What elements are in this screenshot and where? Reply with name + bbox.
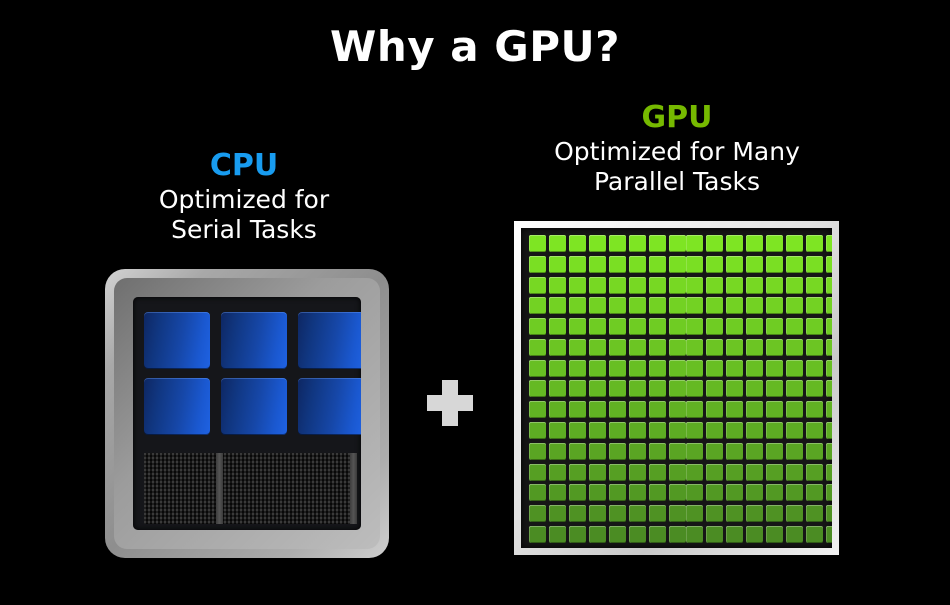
- gpu-core: [549, 318, 566, 335]
- gpu-subtitle-line-1: Optimized for Many: [512, 137, 842, 167]
- gpu-core: [529, 256, 546, 273]
- gpu-core: [746, 339, 763, 356]
- gpu-core: [569, 318, 586, 335]
- gpu-core: [629, 256, 646, 273]
- gpu-core: [766, 360, 783, 377]
- gpu-core: [766, 235, 783, 252]
- cpu-heading: CPU: [94, 148, 394, 183]
- gpu-core: [629, 297, 646, 314]
- gpu-core-block-right: [686, 380, 832, 397]
- gpu-core: [826, 256, 832, 273]
- gpu-core-row: [529, 484, 824, 501]
- gpu-core: [609, 256, 626, 273]
- slide-canvas: Why a GPU? CPU Optimized for Serial Task…: [0, 0, 950, 605]
- gpu-core-block-right: [686, 297, 832, 314]
- gpu-core: [629, 505, 646, 522]
- gpu-core-row: [529, 422, 824, 439]
- gpu-core: [706, 380, 723, 397]
- gpu-core: [609, 277, 626, 294]
- gpu-core: [589, 339, 606, 356]
- gpu-core: [806, 360, 823, 377]
- cpu-subtitle-line-1: Optimized for: [94, 185, 394, 215]
- gpu-core: [529, 526, 546, 543]
- gpu-core: [589, 318, 606, 335]
- gpu-core: [549, 277, 566, 294]
- gpu-core-row: [529, 235, 824, 252]
- gpu-core-block-right: [686, 256, 832, 273]
- gpu-core: [726, 401, 743, 418]
- gpu-core: [589, 277, 606, 294]
- gpu-core: [589, 360, 606, 377]
- gpu-core: [746, 401, 763, 418]
- gpu-core: [669, 464, 686, 481]
- gpu-core: [786, 360, 803, 377]
- gpu-core: [669, 339, 686, 356]
- gpu-core: [726, 318, 743, 335]
- gpu-core-block-left: [529, 422, 686, 439]
- gpu-core: [766, 484, 783, 501]
- gpu-core: [746, 235, 763, 252]
- gpu-core: [629, 318, 646, 335]
- gpu-core-row: [529, 277, 824, 294]
- gpu-core-block-right: [686, 277, 832, 294]
- gpu-core: [649, 422, 666, 439]
- gpu-core: [686, 380, 703, 397]
- gpu-core: [686, 526, 703, 543]
- gpu-core: [726, 464, 743, 481]
- gpu-core: [569, 505, 586, 522]
- gpu-core: [806, 464, 823, 481]
- gpu-core: [786, 505, 803, 522]
- gpu-core: [766, 526, 783, 543]
- gpu-core: [629, 443, 646, 460]
- gpu-core-row: [529, 526, 824, 543]
- gpu-core-row: [529, 318, 824, 335]
- gpu-core-block-right: [686, 339, 832, 356]
- gpu-core: [746, 443, 763, 460]
- gpu-core: [766, 401, 783, 418]
- gpu-core: [766, 277, 783, 294]
- gpu-core-row: [529, 256, 824, 273]
- gpu-core: [786, 277, 803, 294]
- gpu-core-block-left: [529, 484, 686, 501]
- gpu-core: [649, 277, 666, 294]
- gpu-core: [746, 360, 763, 377]
- gpu-core-grid: [529, 235, 824, 543]
- gpu-core: [726, 443, 743, 460]
- gpu-core: [669, 422, 686, 439]
- gpu-core: [629, 235, 646, 252]
- gpu-core: [569, 339, 586, 356]
- gpu-core: [569, 484, 586, 501]
- gpu-core: [786, 484, 803, 501]
- gpu-core: [649, 318, 666, 335]
- gpu-core-row: [529, 297, 824, 314]
- gpu-core: [746, 277, 763, 294]
- gpu-core: [806, 401, 823, 418]
- gpu-core: [589, 464, 606, 481]
- gpu-core-block-left: [529, 339, 686, 356]
- gpu-core: [826, 360, 832, 377]
- gpu-core: [766, 505, 783, 522]
- gpu-core-block-left: [529, 256, 686, 273]
- gpu-core: [629, 401, 646, 418]
- gpu-core: [686, 401, 703, 418]
- gpu-core: [726, 526, 743, 543]
- cpu-core: [144, 378, 210, 435]
- gpu-core: [786, 380, 803, 397]
- gpu-core: [529, 360, 546, 377]
- gpu-core: [529, 277, 546, 294]
- gpu-core-block-left: [529, 297, 686, 314]
- gpu-core: [686, 277, 703, 294]
- gpu-core: [649, 484, 666, 501]
- gpu-core-block-right: [686, 318, 832, 335]
- gpu-core: [706, 484, 723, 501]
- gpu-core: [786, 464, 803, 481]
- gpu-core: [766, 422, 783, 439]
- gpu-core: [706, 526, 723, 543]
- gpu-core: [726, 484, 743, 501]
- gpu-core: [726, 339, 743, 356]
- gpu-core: [549, 380, 566, 397]
- gpu-core: [686, 256, 703, 273]
- gpu-core: [649, 401, 666, 418]
- gpu-core: [609, 443, 626, 460]
- gpu-core: [726, 422, 743, 439]
- gpu-core: [629, 339, 646, 356]
- gpu-core: [529, 505, 546, 522]
- gpu-core: [746, 505, 763, 522]
- gpu-core: [549, 339, 566, 356]
- gpu-core: [686, 484, 703, 501]
- gpu-core: [569, 401, 586, 418]
- gpu-core-row: [529, 464, 824, 481]
- gpu-core: [786, 422, 803, 439]
- gpu-core: [766, 297, 783, 314]
- gpu-core: [706, 339, 723, 356]
- gpu-heading: GPU: [512, 100, 842, 135]
- gpu-core-block-right: [686, 235, 832, 252]
- cpu-core: [298, 378, 361, 435]
- gpu-core: [669, 318, 686, 335]
- gpu-core: [686, 505, 703, 522]
- gpu-core-block-right: [686, 401, 832, 418]
- gpu-core: [649, 256, 666, 273]
- gpu-core: [549, 256, 566, 273]
- gpu-core: [726, 297, 743, 314]
- gpu-core: [649, 443, 666, 460]
- gpu-core: [806, 422, 823, 439]
- gpu-core: [609, 422, 626, 439]
- gpu-core: [589, 422, 606, 439]
- gpu-core: [706, 505, 723, 522]
- gpu-core: [786, 256, 803, 273]
- gpu-core: [686, 297, 703, 314]
- gpu-core: [529, 318, 546, 335]
- gpu-core: [706, 443, 723, 460]
- gpu-core: [686, 339, 703, 356]
- gpu-core: [589, 256, 606, 273]
- gpu-core: [529, 443, 546, 460]
- gpu-core: [806, 505, 823, 522]
- gpu-core: [609, 484, 626, 501]
- gpu-core: [669, 256, 686, 273]
- gpu-core: [686, 360, 703, 377]
- gpu-core: [609, 297, 626, 314]
- gpu-core: [649, 297, 666, 314]
- gpu-core: [826, 297, 832, 314]
- gpu-core: [706, 401, 723, 418]
- gpu-core: [726, 380, 743, 397]
- gpu-core: [786, 297, 803, 314]
- gpu-core: [609, 318, 626, 335]
- gpu-core: [669, 484, 686, 501]
- gpu-core: [746, 464, 763, 481]
- gpu-core: [569, 297, 586, 314]
- gpu-core: [589, 297, 606, 314]
- gpu-core: [569, 360, 586, 377]
- gpu-core: [549, 422, 566, 439]
- gpu-core: [706, 360, 723, 377]
- gpu-core: [746, 422, 763, 439]
- gpu-core-block-right: [686, 484, 832, 501]
- gpu-core: [669, 277, 686, 294]
- gpu-core-row: [529, 505, 824, 522]
- gpu-core: [826, 339, 832, 356]
- gpu-core-block-right: [686, 526, 832, 543]
- gpu-core: [589, 401, 606, 418]
- gpu-core: [806, 443, 823, 460]
- gpu-core: [826, 505, 832, 522]
- gpu-core: [529, 464, 546, 481]
- gpu-core: [549, 235, 566, 252]
- gpu-core: [669, 235, 686, 252]
- gpu-core: [706, 422, 723, 439]
- gpu-core: [766, 443, 783, 460]
- gpu-core: [766, 380, 783, 397]
- gpu-core: [569, 526, 586, 543]
- gpu-core: [726, 505, 743, 522]
- gpu-core: [669, 505, 686, 522]
- gpu-core: [569, 277, 586, 294]
- gpu-core: [529, 422, 546, 439]
- gpu-core: [806, 318, 823, 335]
- gpu-core: [629, 464, 646, 481]
- gpu-core-row: [529, 443, 824, 460]
- gpu-core: [746, 526, 763, 543]
- gpu-core: [649, 505, 666, 522]
- cpu-core: [221, 312, 287, 369]
- gpu-core: [569, 235, 586, 252]
- gpu-core: [826, 526, 832, 543]
- cpu-core: [144, 312, 210, 369]
- gpu-core: [649, 339, 666, 356]
- gpu-core-block-left: [529, 401, 686, 418]
- plus-icon-vertical-bar: [442, 380, 458, 426]
- cpu-cache-divider-left: [216, 453, 223, 524]
- cpu-die: [133, 297, 361, 530]
- cpu-subtitle-line-2: Serial Tasks: [94, 215, 394, 245]
- gpu-core: [786, 318, 803, 335]
- gpu-core: [706, 297, 723, 314]
- gpu-core: [549, 484, 566, 501]
- gpu-core: [589, 484, 606, 501]
- cpu-caption: CPU Optimized for Serial Tasks: [94, 148, 394, 244]
- gpu-core: [529, 297, 546, 314]
- gpu-core: [826, 235, 832, 252]
- gpu-core: [726, 235, 743, 252]
- cpu-cache-region: [144, 453, 350, 524]
- gpu-core: [609, 360, 626, 377]
- gpu-core: [786, 235, 803, 252]
- gpu-core: [569, 380, 586, 397]
- gpu-core: [746, 297, 763, 314]
- gpu-core: [629, 526, 646, 543]
- gpu-core-block-right: [686, 443, 832, 460]
- gpu-core: [826, 318, 832, 335]
- gpu-core: [766, 318, 783, 335]
- gpu-core: [746, 256, 763, 273]
- gpu-core: [609, 464, 626, 481]
- gpu-core-block-left: [529, 526, 686, 543]
- cpu-chip-bezel: [114, 278, 380, 549]
- page-title: Why a GPU?: [0, 22, 950, 71]
- gpu-core: [786, 401, 803, 418]
- gpu-core-block-right: [686, 464, 832, 481]
- gpu-core: [649, 360, 666, 377]
- gpu-core: [589, 526, 606, 543]
- gpu-core: [726, 256, 743, 273]
- gpu-core: [706, 235, 723, 252]
- cpu-cache-divider-right: [350, 453, 357, 524]
- gpu-core: [529, 380, 546, 397]
- gpu-die: [521, 228, 832, 548]
- gpu-core: [726, 360, 743, 377]
- gpu-core: [589, 443, 606, 460]
- gpu-core: [826, 277, 832, 294]
- gpu-core: [609, 380, 626, 397]
- gpu-core: [706, 256, 723, 273]
- gpu-core: [669, 360, 686, 377]
- gpu-core: [569, 443, 586, 460]
- gpu-core-block-right: [686, 422, 832, 439]
- gpu-core: [806, 256, 823, 273]
- gpu-core: [549, 464, 566, 481]
- gpu-core-row: [529, 339, 824, 356]
- gpu-core: [746, 318, 763, 335]
- gpu-core: [549, 360, 566, 377]
- gpu-core: [766, 256, 783, 273]
- gpu-core: [609, 339, 626, 356]
- gpu-core: [766, 464, 783, 481]
- gpu-core: [549, 526, 566, 543]
- gpu-core: [706, 277, 723, 294]
- gpu-core-block-left: [529, 277, 686, 294]
- gpu-core: [746, 484, 763, 501]
- gpu-core-block-left: [529, 505, 686, 522]
- gpu-core: [609, 505, 626, 522]
- cpu-chip-diagram: [105, 269, 389, 558]
- gpu-core: [669, 443, 686, 460]
- gpu-core: [629, 484, 646, 501]
- gpu-core: [649, 526, 666, 543]
- gpu-core: [766, 339, 783, 356]
- gpu-core-block-left: [529, 443, 686, 460]
- gpu-core: [569, 464, 586, 481]
- gpu-core: [786, 526, 803, 543]
- gpu-core: [629, 422, 646, 439]
- gpu-core: [569, 422, 586, 439]
- gpu-core: [609, 401, 626, 418]
- gpu-core: [669, 526, 686, 543]
- gpu-core-block-left: [529, 380, 686, 397]
- gpu-core: [529, 235, 546, 252]
- gpu-core: [806, 277, 823, 294]
- gpu-core-row: [529, 380, 824, 397]
- gpu-core: [686, 235, 703, 252]
- gpu-core-block-left: [529, 235, 686, 252]
- gpu-subtitle-line-2: Parallel Tasks: [512, 167, 842, 197]
- gpu-core-block-left: [529, 318, 686, 335]
- gpu-core: [629, 380, 646, 397]
- gpu-core: [826, 422, 832, 439]
- cpu-core: [221, 378, 287, 435]
- gpu-core: [649, 380, 666, 397]
- gpu-core: [826, 380, 832, 397]
- cpu-core-grid: [144, 312, 361, 435]
- gpu-core: [549, 401, 566, 418]
- gpu-core-block-left: [529, 360, 686, 377]
- gpu-chip-diagram: [514, 221, 839, 555]
- gpu-core: [686, 464, 703, 481]
- gpu-core: [649, 464, 666, 481]
- gpu-caption: GPU Optimized for Many Parallel Tasks: [512, 100, 842, 196]
- gpu-core-row: [529, 360, 824, 377]
- gpu-core: [786, 443, 803, 460]
- gpu-core-block-right: [686, 360, 832, 377]
- gpu-core: [746, 380, 763, 397]
- gpu-core: [669, 401, 686, 418]
- gpu-core: [549, 505, 566, 522]
- gpu-core: [529, 339, 546, 356]
- gpu-core: [686, 443, 703, 460]
- gpu-core: [826, 464, 832, 481]
- gpu-core: [609, 526, 626, 543]
- gpu-core: [706, 464, 723, 481]
- gpu-core: [806, 297, 823, 314]
- gpu-core: [529, 484, 546, 501]
- gpu-core: [806, 235, 823, 252]
- gpu-core: [686, 318, 703, 335]
- gpu-core: [669, 297, 686, 314]
- gpu-core-row: [529, 401, 824, 418]
- plus-icon: [427, 380, 473, 426]
- gpu-core: [629, 277, 646, 294]
- gpu-core: [726, 277, 743, 294]
- gpu-core: [806, 526, 823, 543]
- gpu-core: [569, 256, 586, 273]
- gpu-core: [806, 484, 823, 501]
- gpu-core-block-right: [686, 505, 832, 522]
- gpu-core: [589, 235, 606, 252]
- gpu-core: [826, 401, 832, 418]
- gpu-core: [609, 235, 626, 252]
- gpu-core: [826, 443, 832, 460]
- gpu-core: [669, 380, 686, 397]
- gpu-core: [706, 318, 723, 335]
- gpu-core: [649, 235, 666, 252]
